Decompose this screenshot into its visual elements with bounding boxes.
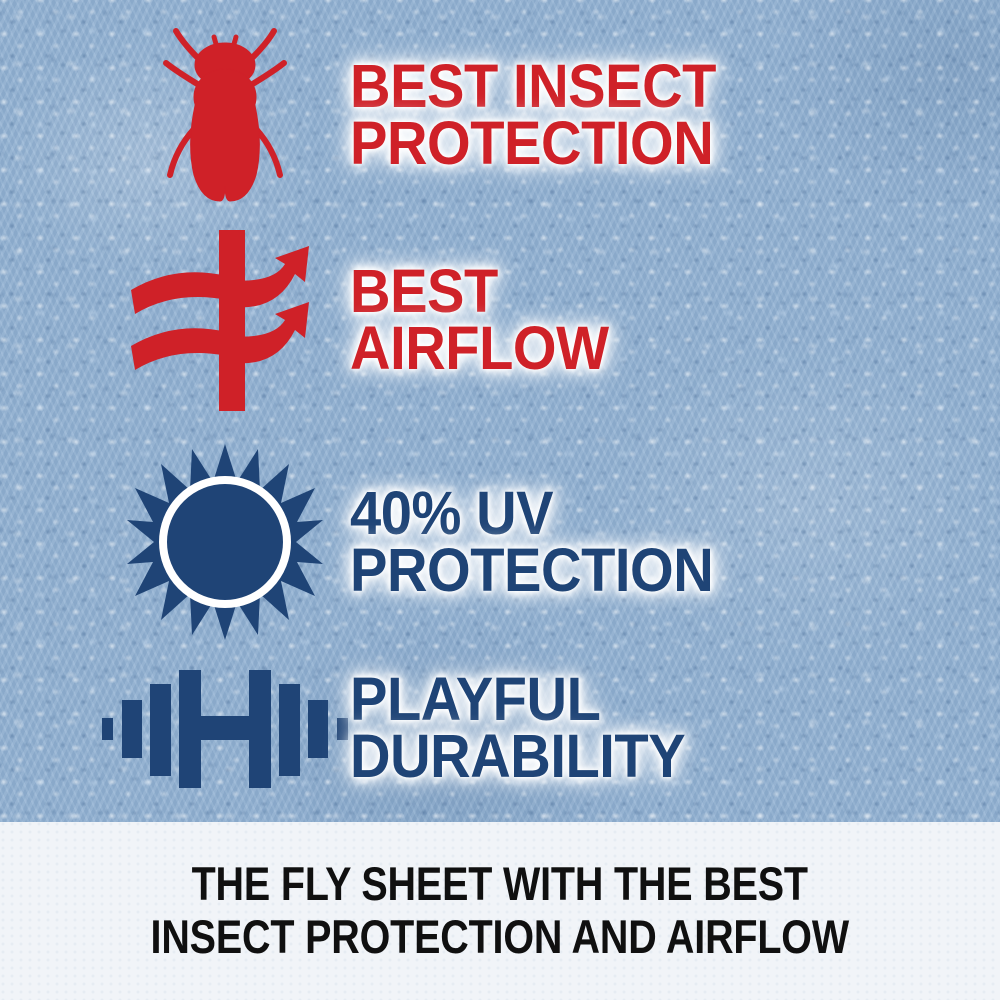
dumbbell-icon — [100, 658, 350, 798]
feature-text-cell: BEST INSECT PROTECTION — [350, 58, 748, 173]
feature-text-cell: PLAYFUL DURABILITY — [350, 671, 714, 786]
sun-uv-icon — [125, 442, 325, 642]
feature-row-airflow: BEST AIRFLOW — [100, 225, 960, 415]
feature-headline-line2: AIRFLOW — [350, 320, 609, 377]
feature-headline-line1: PLAYFUL — [350, 671, 685, 728]
feature-headline-line2: PROTECTION — [350, 115, 716, 172]
feature-row-uv-protection: 40% UV PROTECTION — [100, 442, 960, 642]
feature-headline: BEST INSECT PROTECTION — [350, 58, 716, 173]
feature-headline: BEST AIRFLOW — [350, 263, 609, 378]
feature-headline-line1: BEST INSECT — [350, 58, 716, 115]
caption-band: THE FLY SHEET WITH THE BEST INSECT PROTE… — [0, 822, 1000, 1000]
caption-text: THE FLY SHEET WITH THE BEST INSECT PROTE… — [151, 858, 849, 963]
feature-icon-cell — [100, 442, 350, 642]
feature-icon-cell — [100, 228, 350, 413]
feature-headline-line2: DURABILITY — [350, 728, 685, 785]
feature-headline-line2: PROTECTION — [350, 542, 713, 599]
feature-row-durability: PLAYFUL DURABILITY — [100, 648, 960, 808]
caption-line1: THE FLY SHEET WITH THE BEST — [151, 858, 849, 911]
fly-icon — [150, 23, 300, 208]
feature-row-insect-protection: BEST INSECT PROTECTION — [100, 20, 960, 210]
feature-text-cell: BEST AIRFLOW — [350, 263, 631, 378]
product-feature-poster: BEST INSECT PROTECTION — [0, 0, 1000, 1000]
feature-headline: PLAYFUL DURABILITY — [350, 671, 685, 786]
caption-line2: INSECT PROTECTION AND AIRFLOW — [151, 911, 849, 964]
feature-headline-line1: BEST — [350, 263, 609, 320]
feature-text-cell: 40% UV PROTECTION — [350, 485, 745, 600]
feature-headline-line1: 40% UV — [350, 485, 713, 542]
airflow-icon — [123, 228, 328, 413]
feature-headline: 40% UV PROTECTION — [350, 485, 713, 600]
feature-icon-cell — [100, 23, 350, 208]
feature-icon-cell — [100, 658, 350, 798]
